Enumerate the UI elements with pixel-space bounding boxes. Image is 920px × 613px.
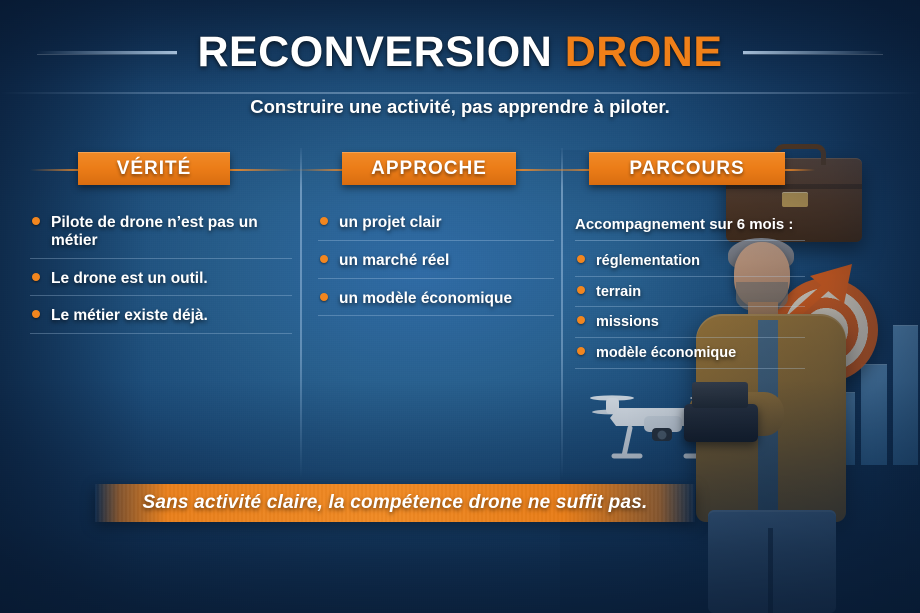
bullet-dot-icon bbox=[577, 347, 585, 355]
header: RECONVERSION DRONE Construire une activi… bbox=[0, 0, 920, 132]
title-rule-right bbox=[743, 51, 883, 54]
bullet-text: un projet clair bbox=[339, 214, 442, 232]
list-item: un projet clair bbox=[318, 214, 554, 241]
tab-verite[interactable]: VÉRITÉ bbox=[78, 152, 230, 185]
column-divider-2 bbox=[561, 148, 563, 478]
list-item: missions bbox=[575, 314, 805, 338]
list-item: Pilote de drone n’est pas un métier bbox=[30, 214, 292, 259]
bullet-text: Pilote de drone n’est pas un métier bbox=[51, 214, 288, 250]
bullet-text: réglementation bbox=[596, 253, 700, 270]
list-item: un marché réel bbox=[318, 252, 554, 279]
bullet-dot-icon bbox=[32, 217, 40, 225]
bullet-dot-icon bbox=[320, 293, 328, 301]
page-subtitle: Construire une activité, pas apprendre à… bbox=[0, 96, 920, 118]
title-word-reconversion: RECONVERSION bbox=[197, 28, 552, 76]
bullet-text: un modèle économique bbox=[339, 290, 512, 308]
title-row: RECONVERSION DRONE bbox=[0, 28, 920, 77]
column-header-verite: VÉRITÉ bbox=[30, 152, 292, 188]
parcours-lead-text: Accompagnement sur 6 mois : bbox=[575, 216, 805, 241]
list-item: réglementation bbox=[575, 253, 805, 277]
bullet-list-parcours: réglementation terrain missions modèle é… bbox=[575, 253, 805, 369]
banner-text: Sans activité claire, la compétence dron… bbox=[95, 484, 695, 522]
page-title: RECONVERSION DRONE bbox=[177, 28, 742, 77]
column-divider-1 bbox=[300, 148, 302, 478]
list-item: un modèle économique bbox=[318, 290, 554, 317]
list-item: modèle économique bbox=[575, 345, 805, 369]
bullet-text: terrain bbox=[596, 284, 641, 301]
tab-rule-right bbox=[785, 169, 815, 171]
bottom-banner: Sans activité claire, la compétence dron… bbox=[0, 480, 920, 526]
tab-rule-left bbox=[547, 169, 595, 171]
column-approche: APPROCHE un projet clair un marché réel … bbox=[318, 152, 554, 327]
list-item: Le drone est un outil. bbox=[30, 270, 292, 297]
bullet-list-approche: un projet clair un marché réel un modèle… bbox=[318, 214, 554, 316]
bullet-dot-icon bbox=[320, 217, 328, 225]
column-header-parcours: PARCOURS bbox=[575, 152, 805, 188]
infographic-canvas: RECONVERSION DRONE Construire une activi… bbox=[0, 0, 920, 613]
tab-parcours[interactable]: PARCOURS bbox=[589, 152, 785, 185]
bullet-list-verite: Pilote de drone n’est pas un métier Le d… bbox=[30, 214, 292, 334]
bullet-dot-icon bbox=[577, 316, 585, 324]
list-item: Le métier existe déjà. bbox=[30, 307, 292, 334]
bullet-text: missions bbox=[596, 314, 659, 331]
tab-approche[interactable]: APPROCHE bbox=[342, 152, 516, 185]
bullet-dot-icon bbox=[320, 255, 328, 263]
bullet-text: Le drone est un outil. bbox=[51, 270, 208, 288]
title-word-drone: DRONE bbox=[565, 28, 723, 76]
bullet-dot-icon bbox=[577, 286, 585, 294]
title-rule-left bbox=[37, 51, 177, 54]
bullet-text: modèle économique bbox=[596, 345, 736, 362]
bullet-dot-icon bbox=[32, 273, 40, 281]
list-item: terrain bbox=[575, 284, 805, 308]
bullet-text: un marché réel bbox=[339, 252, 449, 270]
bullet-dot-icon bbox=[577, 255, 585, 263]
subtitle-divider bbox=[0, 92, 920, 94]
bullet-dot-icon bbox=[32, 310, 40, 318]
bullet-text: Le métier existe déjà. bbox=[51, 307, 208, 325]
column-header-approche: APPROCHE bbox=[318, 152, 554, 188]
column-verite: VÉRITÉ Pilote de drone n’est pas un méti… bbox=[30, 152, 292, 345]
tab-rule-right bbox=[230, 169, 300, 171]
column-parcours: PARCOURS Accompagnement sur 6 mois : rég… bbox=[575, 152, 805, 376]
